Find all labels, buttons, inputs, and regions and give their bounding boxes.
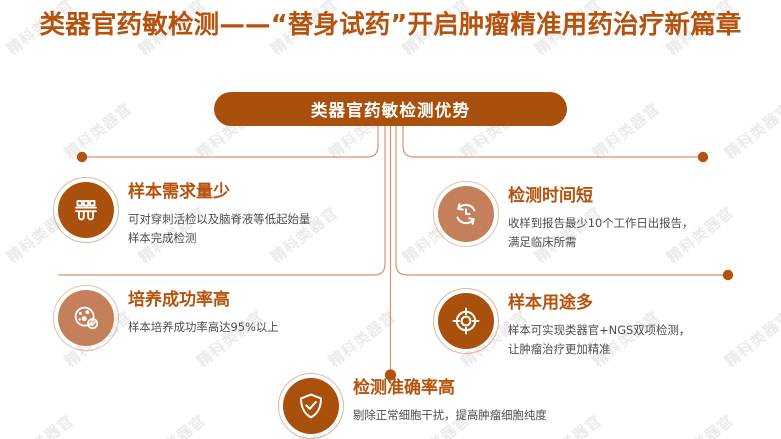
page-title-container: 类器官药敏检测——“替身试药”开启肿瘤精准用药治疗新篇章 [0, 4, 781, 48]
feature-accuracy: 检测准确率高 剔除正常细胞干扰，提高肿瘤细胞纯度 [283, 378, 547, 434]
feature-desc-line: 样本可实现类器官+NGS双项检测， [508, 321, 690, 341]
rail-dot-left-top [77, 152, 87, 162]
target-crosshair-icon [438, 293, 494, 349]
page-title: 类器官药敏检测——“替身试药”开启肿瘤精准用药治疗新篇章 [39, 13, 741, 39]
feature-desc-line: 可对穿刺活检以及脑脊液等低起始量 [128, 210, 310, 230]
test-tube-rack-icon [58, 182, 114, 238]
rail-dot-right-top [698, 152, 708, 162]
feature-text-sample-need: 样本需求量少 可对穿刺活检以及脑脊液等低起始量 样本完成检测 [114, 182, 310, 249]
feature-desc-line: 让肿瘤治疗更加精准 [508, 340, 690, 360]
feature-time-short: 检测时间短 收样到报告最少10个工作日出报告， 满足临床所需 [438, 186, 693, 253]
feature-text-culture-rate: 培养成功率高 样本培养成功率高达95%以上 [114, 290, 279, 337]
feature-heading: 检测准确率高 [353, 379, 547, 399]
feature-sample-need: 样本需求量少 可对穿刺活检以及脑脊液等低起始量 样本完成检测 [58, 182, 310, 249]
feature-heading: 样本需求量少 [128, 183, 310, 203]
feature-desc-line: 满足临床所需 [508, 233, 693, 253]
infographic-page: 精科类器官精科类器官精科类器官精科类器官精科类器官精科类器官精科类器官精科类器官… [0, 0, 781, 439]
cells-check-icon [58, 290, 114, 346]
advantages-banner-label: 类器官药敏检测优势 [311, 97, 470, 121]
feature-description: 样本培养成功率高达95%以上 [128, 318, 279, 338]
feature-description: 收样到报告最少10个工作日出报告， 满足临床所需 [508, 214, 693, 253]
feature-desc-line: 收样到报告最少10个工作日出报告， [508, 214, 693, 234]
feature-heading: 培养成功率高 [128, 291, 279, 311]
feature-text-sample-use: 样本用途多 样本可实现类器官+NGS双项检测， 让肿瘤治疗更加精准 [494, 293, 690, 360]
shield-check-icon [283, 378, 339, 434]
feature-desc-line: 样本完成检测 [128, 229, 310, 249]
feature-description: 可对穿刺活检以及脑脊液等低起始量 样本完成检测 [128, 210, 310, 249]
clock-refresh-icon [438, 186, 494, 242]
feature-description: 剔除正常细胞干扰，提高肿瘤细胞纯度 [353, 406, 547, 426]
feature-heading: 检测时间短 [508, 187, 693, 207]
feature-heading: 样本用途多 [508, 294, 690, 314]
feature-description: 样本可实现类器官+NGS双项检测， 让肿瘤治疗更加精准 [508, 321, 690, 360]
feature-desc-line: 剔除正常细胞干扰，提高肿瘤细胞纯度 [353, 406, 547, 426]
feature-sample-use: 样本用途多 样本可实现类器官+NGS双项检测， 让肿瘤治疗更加精准 [438, 293, 690, 360]
feature-text-time-short: 检测时间短 收样到报告最少10个工作日出报告， 满足临床所需 [494, 186, 693, 253]
advantages-banner: 类器官药敏检测优势 [214, 92, 567, 126]
rail-dot-right-mid [723, 270, 733, 280]
feature-culture-rate: 培养成功率高 样本培养成功率高达95%以上 [58, 290, 279, 346]
feature-text-accuracy: 检测准确率高 剔除正常细胞干扰，提高肿瘤细胞纯度 [339, 378, 547, 425]
feature-desc-line: 样本培养成功率高达95%以上 [128, 318, 279, 338]
